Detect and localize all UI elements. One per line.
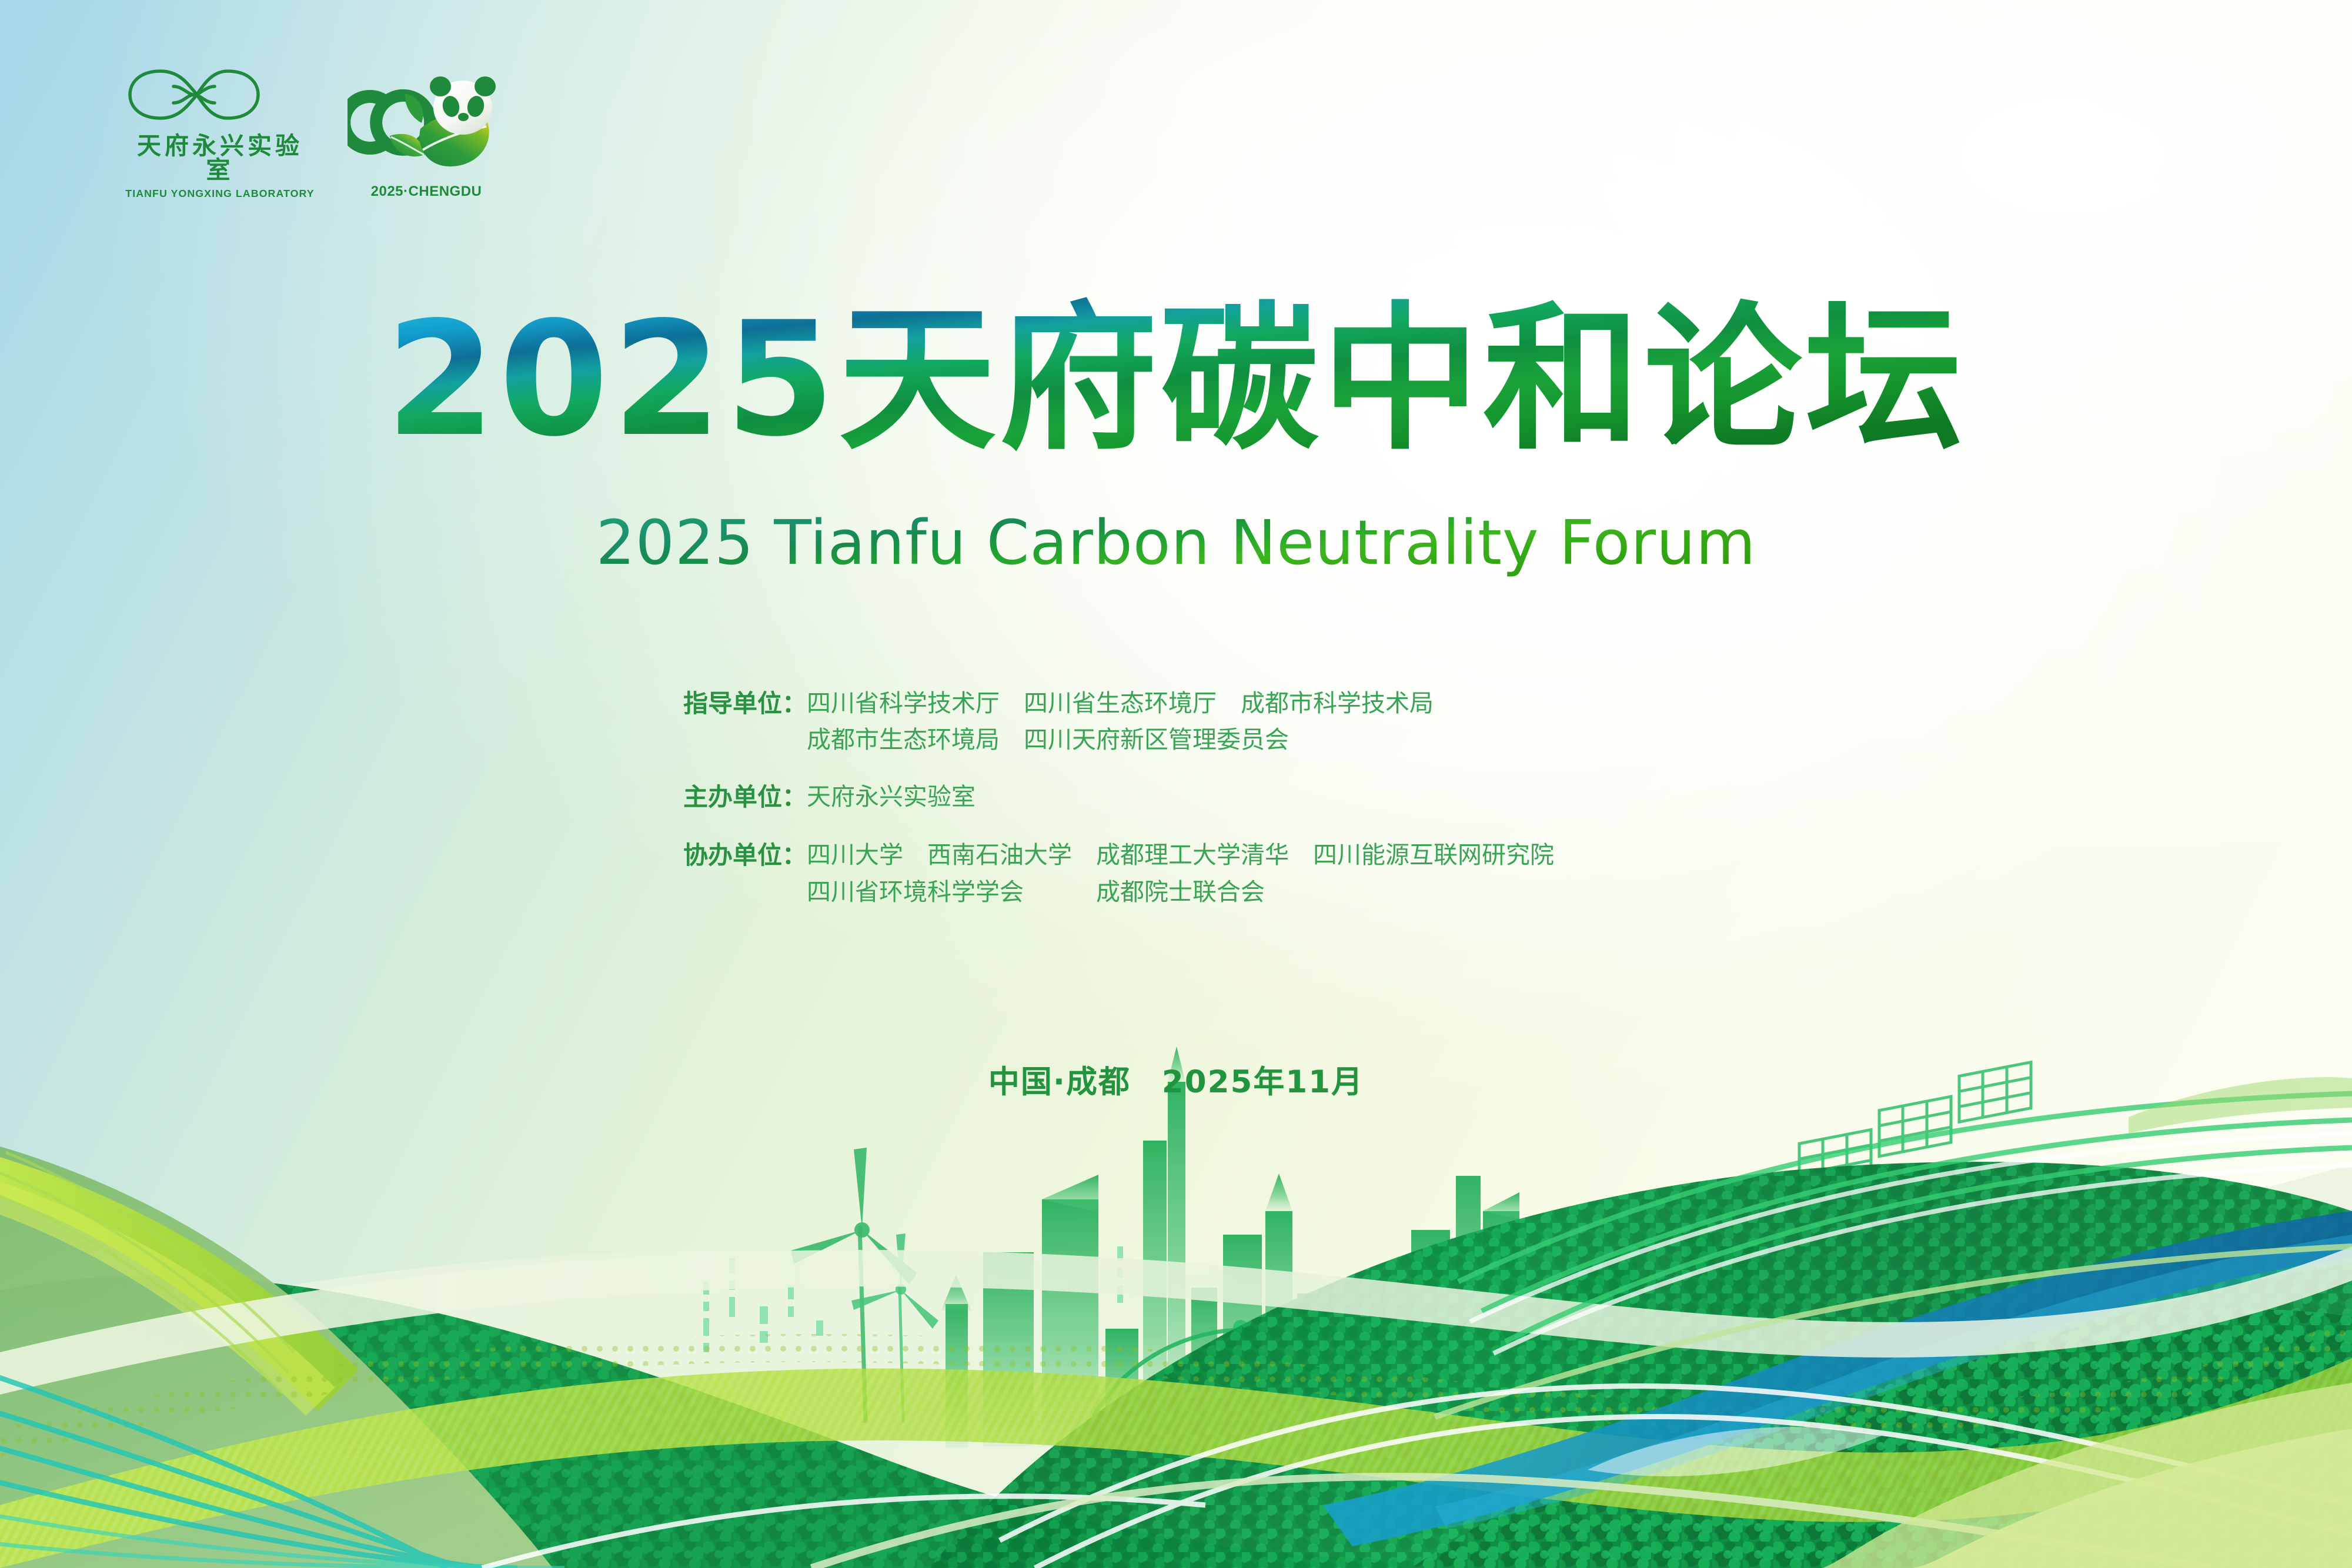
- organizer-label-host: 主办单位：: [683, 778, 807, 816]
- main-title: 2025天府碳中和论坛: [0, 293, 2352, 475]
- organizer-group-host: 主办单位： 天府永兴实验室: [683, 778, 1859, 816]
- organizer-line: 四川省科学技术厅 四川省生态环境厅 成都市科学技术局: [807, 685, 1434, 721]
- tianfu-yongxing-laboratory-logo: 天府永兴实验室 TIANFU YONGXING LABORATORY: [126, 62, 313, 200]
- organizer-group-guiding: 指导单位： 四川省科学技术厅 四川省生态环境厅 成都市科学技术局 成都市生态环境…: [683, 685, 1859, 758]
- subtitle: 2025 Tianfu Carbon Neutrality Forum: [0, 503, 2352, 585]
- event-location: 中国·成都: [988, 1064, 1131, 1100]
- logo-bar: 天府永兴实验室 TIANFU YONGXING LABORATORY: [126, 62, 505, 200]
- organizer-line: 成都市生态环境局 四川天府新区管理委员会: [807, 721, 1434, 758]
- organizer-line: 天府永兴实验室: [807, 778, 975, 815]
- organizer-values-coorganizer: 四川大学 西南石油大学 成都理工大学清华 四川能源互联网研究院 四川省环境科学学…: [807, 837, 1554, 910]
- organizer-group-coorganizer: 协办单位： 四川大学 西南石油大学 成都理工大学清华 四川能源互联网研究院 四川…: [683, 837, 1859, 910]
- organizer-label-coorganizer: 协办单位：: [683, 837, 807, 874]
- main-title-text: 2025天府碳中和论坛: [386, 293, 1966, 472]
- co2-chengdu-logo: 2025·CHENGDU: [348, 72, 505, 200]
- organizer-label-guiding: 指导单位：: [683, 685, 807, 723]
- event-place-date: 中国·成都 2025年11月: [0, 1057, 2352, 1102]
- lab-name-cn: 天府永兴实验室: [126, 134, 313, 182]
- lab-name-en: TIANFU YONGXING LABORATORY: [125, 188, 315, 200]
- organizer-values-host: 天府永兴实验室: [807, 778, 975, 815]
- subtitle-svg: 2025 Tianfu Carbon Neutrality Forum: [294, 503, 2058, 585]
- event-date: 2025年11月: [1162, 1064, 1364, 1100]
- main-title-svg: 2025天府碳中和论坛: [206, 293, 2146, 475]
- co2-panda-leaf-logo-icon: [348, 72, 500, 178]
- organizer-values-guiding: 四川省科学技术厅 四川省生态环境厅 成都市科学技术局 成都市生态环境局 四川天府…: [807, 685, 1434, 758]
- co2-logo-caption: 2025·CHENGDU: [348, 183, 505, 200]
- organizer-list: 指导单位： 四川省科学技术厅 四川省生态环境厅 成都市科学技术局 成都市生态环境…: [683, 685, 1859, 916]
- organizer-line: 四川大学 西南石油大学 成都理工大学清华 四川能源互联网研究院: [807, 837, 1554, 873]
- poster-canvas: 天府永兴实验室 TIANFU YONGXING LABORATORY: [0, 0, 2352, 1568]
- organizer-line: 四川省环境科学学会 成都院士联合会: [807, 874, 1554, 910]
- subtitle-text: 2025 Tianfu Carbon Neutrality Forum: [596, 507, 1756, 579]
- infinity-loop-logo-icon: [126, 62, 262, 128]
